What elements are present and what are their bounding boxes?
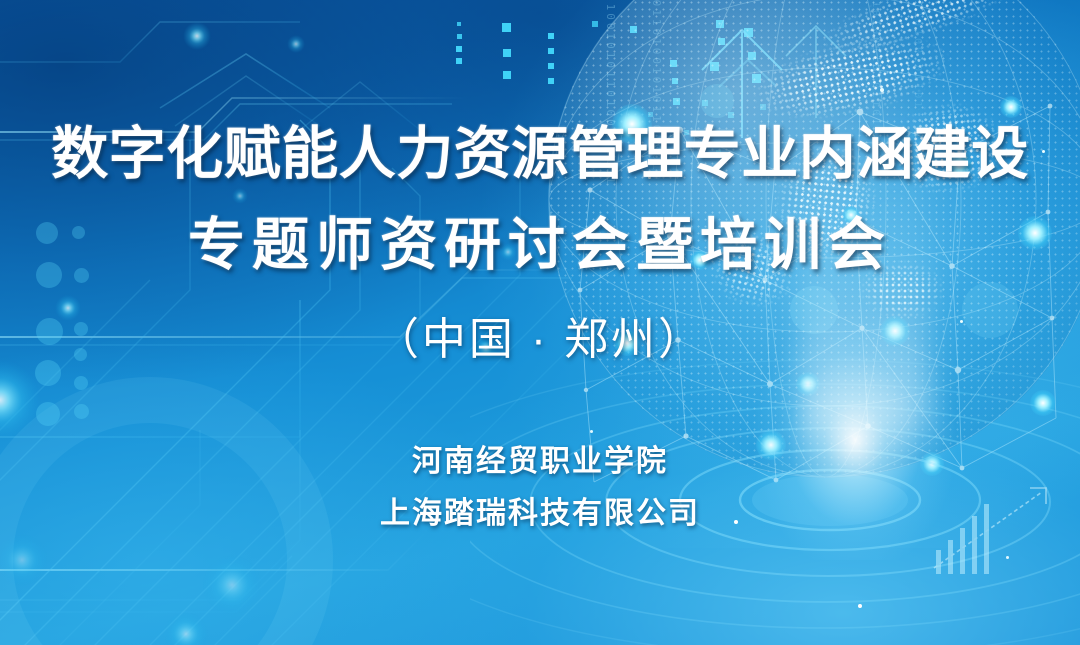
title-line-1: 数字化赋能人力资源管理专业内涵建设 bbox=[51, 126, 1029, 183]
organizer-primary: 河南经贸职业学院 bbox=[412, 447, 668, 477]
title-line-2: 专题师资研讨会暨培训会 bbox=[188, 217, 892, 274]
organizer-secondary: 上海踏瑞科技有限公司 bbox=[380, 499, 700, 529]
poster-text-content: 数字化赋能人力资源管理专业内涵建设 专题师资研讨会暨培训会 （中国 · 郑州） … bbox=[0, 0, 1080, 645]
conference-poster: 01001010110100101101 1011010010101101001… bbox=[0, 0, 1080, 645]
location-label: （中国 · 郑州） bbox=[375, 318, 705, 362]
